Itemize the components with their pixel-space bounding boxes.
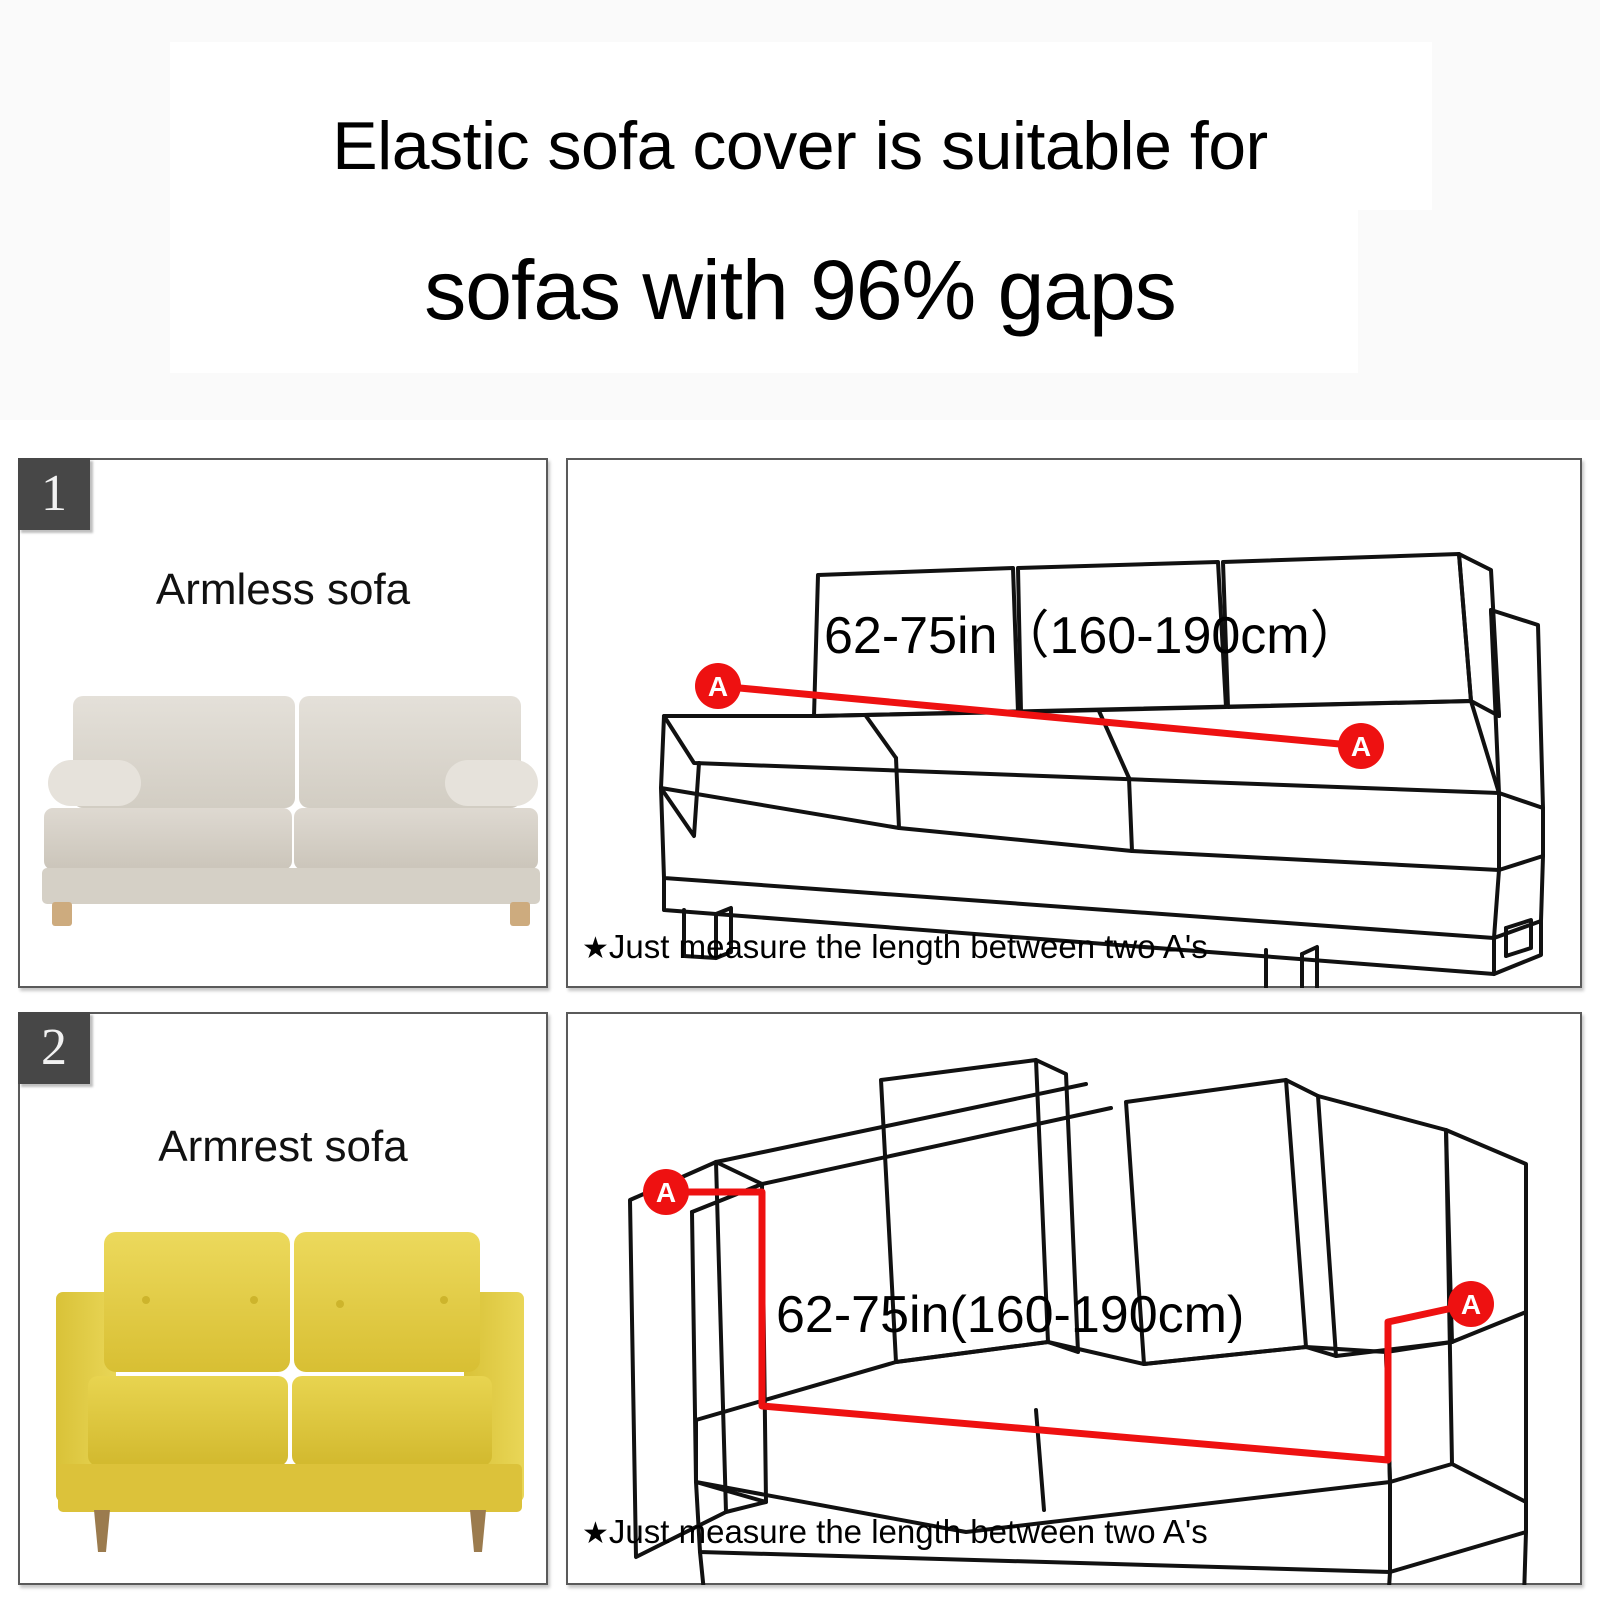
- armrest-sofa-line-diagram: A A 62-75in(160-190cm): [566, 1012, 1582, 1585]
- step-badge-1: 1: [18, 458, 90, 530]
- armless-sofa-photo: [30, 660, 550, 950]
- marker-a-left: A: [695, 663, 741, 709]
- svg-text:A: A: [708, 671, 728, 702]
- header-banner: Elastic sofa cover is suitable for sofas…: [0, 0, 1600, 420]
- page-title-line-1: Elastic sofa cover is suitable for: [0, 112, 1600, 180]
- marker-a-right: A: [1448, 1281, 1494, 1327]
- step-badge-2: 2: [18, 1012, 90, 1084]
- measurement-label-armrest: 62-75in(160-190cm): [776, 1286, 1244, 1344]
- armrest-sofa-photo: [30, 1200, 550, 1570]
- page-title-line-2: sofas with 96% gaps: [0, 248, 1600, 332]
- panel-label-armrest: Armrest sofa: [18, 1122, 548, 1172]
- marker-a-right: A: [1338, 723, 1384, 769]
- caption-armrest: ★Just measure the length between two A's: [582, 1513, 1208, 1551]
- marker-a-left: A: [643, 1169, 689, 1215]
- star-icon: ★: [582, 932, 609, 965]
- caption-text: Just measure the length between two A's: [609, 928, 1208, 965]
- star-icon: ★: [582, 1517, 609, 1550]
- svg-text:A: A: [1461, 1289, 1481, 1320]
- caption-text: Just measure the length between two A's: [609, 1513, 1208, 1550]
- armless-sofa-line-diagram: A A 62-75in（160-190cm）: [566, 458, 1582, 988]
- measurement-label-armless: 62-75in（160-190cm）: [824, 607, 1362, 665]
- panel-label-armless: Armless sofa: [18, 565, 548, 615]
- caption-armless: ★Just measure the length between two A's: [582, 928, 1208, 966]
- svg-text:A: A: [1351, 731, 1371, 762]
- svg-text:A: A: [656, 1177, 676, 1208]
